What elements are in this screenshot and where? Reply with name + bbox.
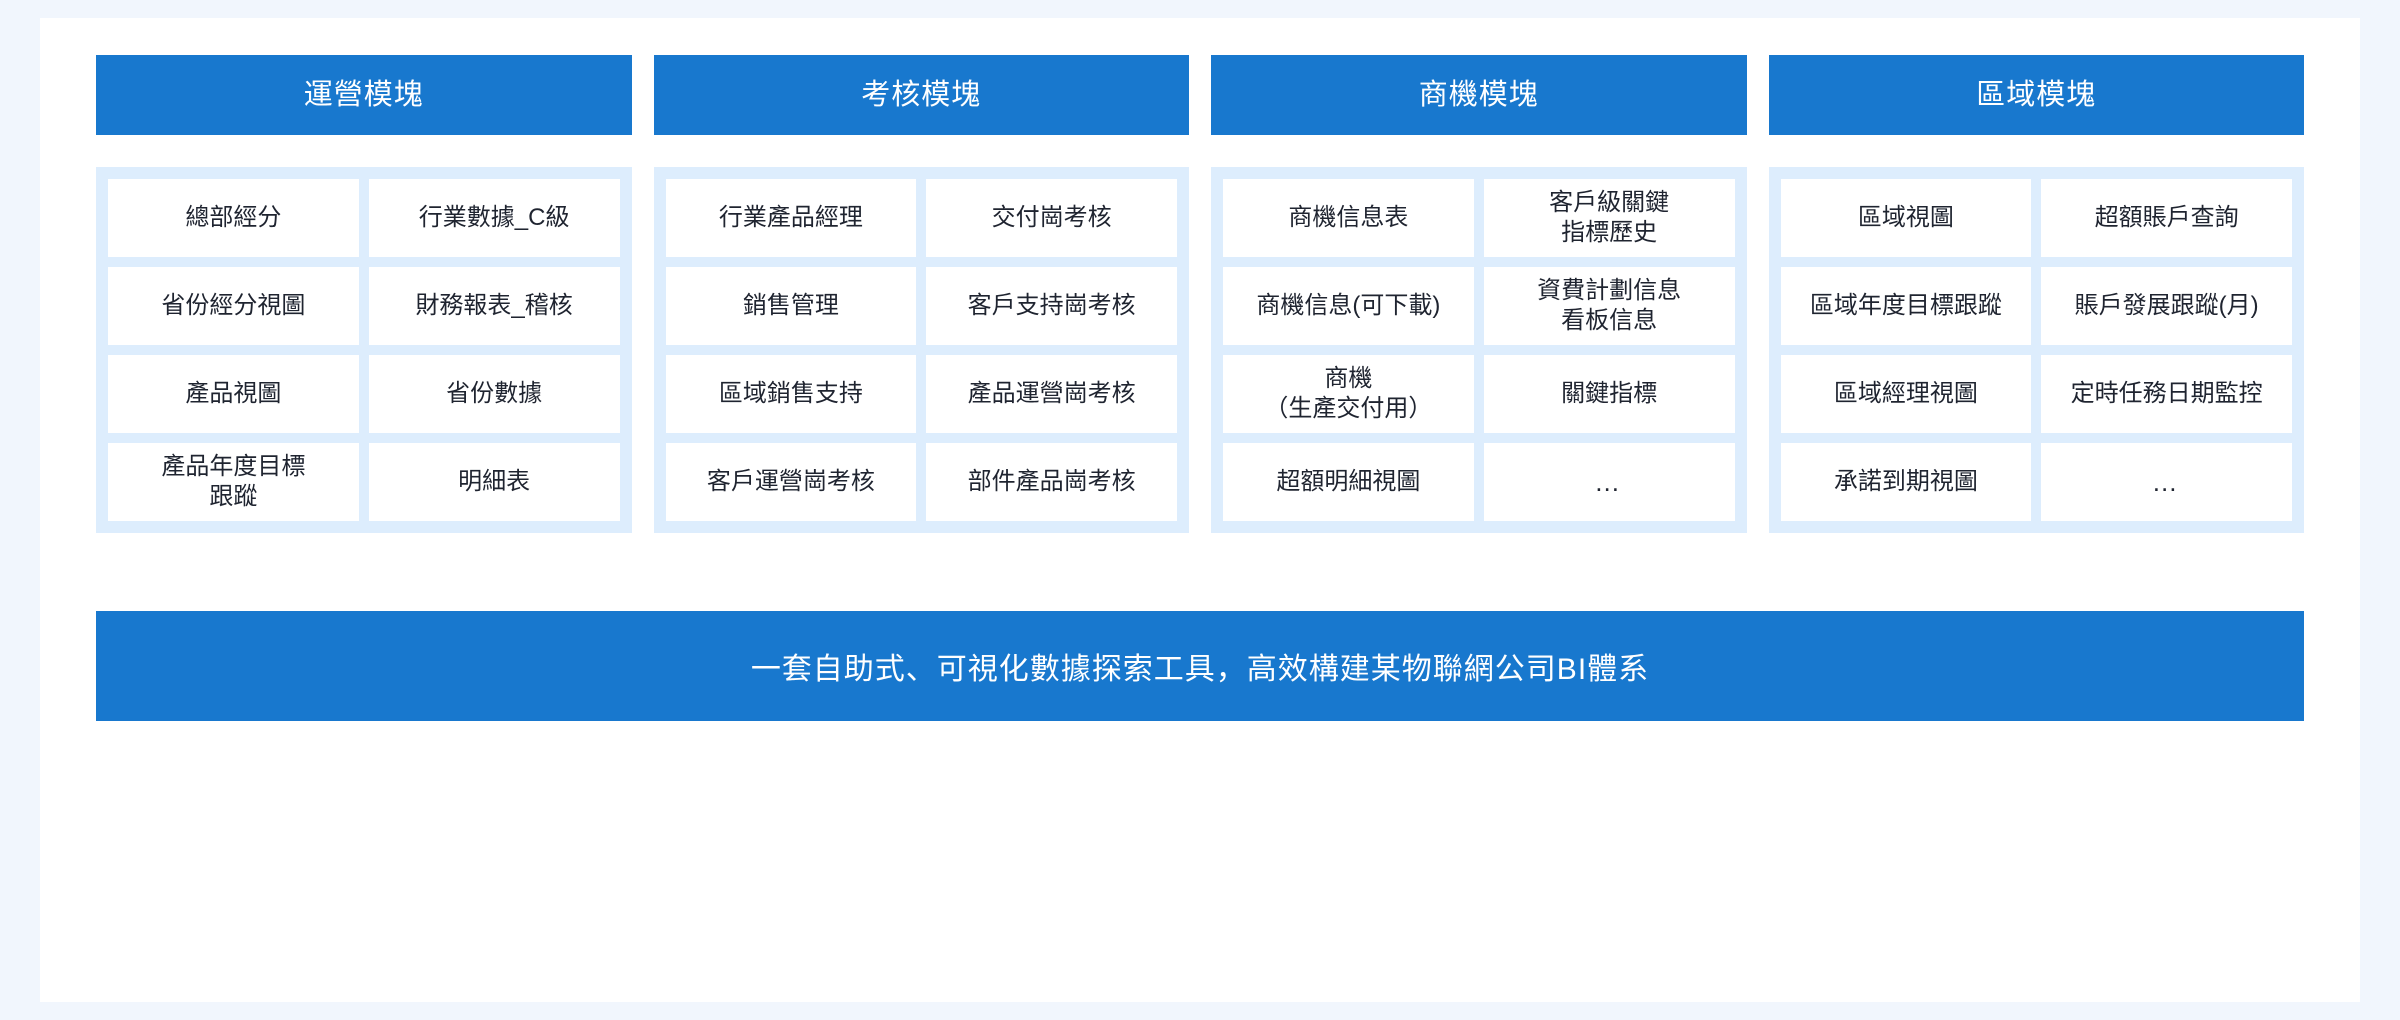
- module-tile[interactable]: 銷售管理: [666, 267, 917, 345]
- module-tile[interactable]: 承諾到期視圖: [1781, 443, 2032, 521]
- module-tile-grid-assessment: 行業產品經理 交付崗考核 銷售管理 客戶支持崗考核 區域銷售支持 產品運營崗考核…: [654, 167, 1190, 533]
- module-tile[interactable]: 區域經理視圖: [1781, 355, 2032, 433]
- module-tile[interactable]: 客戶運營崗考核: [666, 443, 917, 521]
- module-tile[interactable]: 明細表: [369, 443, 620, 521]
- module-tile[interactable]: 產品年度目標 跟蹤: [108, 443, 359, 521]
- module-tile[interactable]: 區域年度目標跟蹤: [1781, 267, 2032, 345]
- module-tile[interactable]: 財務報表_稽核: [369, 267, 620, 345]
- module-column-opportunity: 商機模塊 商機信息表 客戶級關鍵 指標歷史 商機信息(可下載) 資費計劃信息 看…: [1211, 55, 1747, 533]
- module-tile-more[interactable]: …: [1484, 443, 1735, 521]
- module-tile[interactable]: 區域視圖: [1781, 179, 2032, 257]
- module-tile[interactable]: 商機信息(可下載): [1223, 267, 1474, 345]
- module-tile[interactable]: 超額明細視圖: [1223, 443, 1474, 521]
- module-tile-grid-opportunity: 商機信息表 客戶級關鍵 指標歷史 商機信息(可下載) 資費計劃信息 看板信息 商…: [1211, 167, 1747, 533]
- module-title-text: 商機模塊: [1419, 78, 1539, 113]
- module-tile[interactable]: 部件產品崗考核: [926, 443, 1177, 521]
- module-tile[interactable]: 交付崗考核: [926, 179, 1177, 257]
- slide-canvas: 運營模塊 總部經分 行業數據_C級 省份經分視圖 財務報表_稽核 產品視圖 省份…: [40, 18, 2360, 1002]
- footer-banner-text: 一套自助式、可視化數據探索工具，高效構建某物聯網公司BI體系: [751, 644, 1649, 688]
- module-tile-grid-region: 區域視圖 超額賬戶查詢 區域年度目標跟蹤 賬戶發展跟蹤(月) 區域經理視圖 定時…: [1769, 167, 2305, 533]
- module-column-assessment: 考核模塊 行業產品經理 交付崗考核 銷售管理 客戶支持崗考核 區域銷售支持 產品…: [654, 55, 1190, 533]
- module-tile[interactable]: 區域銷售支持: [666, 355, 917, 433]
- module-tile-grid-operations: 總部經分 行業數據_C級 省份經分視圖 財務報表_稽核 產品視圖 省份數據 產品…: [96, 167, 632, 533]
- module-tile[interactable]: 產品運營崗考核: [926, 355, 1177, 433]
- module-column-region: 區域模塊 區域視圖 超額賬戶查詢 區域年度目標跟蹤 賬戶發展跟蹤(月) 區域經理…: [1769, 55, 2305, 533]
- module-tile[interactable]: 行業數據_C級: [369, 179, 620, 257]
- footer-area: 一套自助式、可視化數據探索工具，高效構建某物聯網公司BI體系: [96, 611, 2304, 721]
- module-tile[interactable]: 定時任務日期監控: [2041, 355, 2292, 433]
- module-tile[interactable]: 客戶支持崗考核: [926, 267, 1177, 345]
- module-column-operations: 運營模塊 總部經分 行業數據_C級 省份經分視圖 財務報表_稽核 產品視圖 省份…: [96, 55, 632, 533]
- module-tile[interactable]: 產品視圖: [108, 355, 359, 433]
- module-tile[interactable]: 商機信息表: [1223, 179, 1474, 257]
- module-tile[interactable]: 省份數據: [369, 355, 620, 433]
- module-tile[interactable]: 賬戶發展跟蹤(月): [2041, 267, 2292, 345]
- module-tile-more[interactable]: …: [2041, 443, 2292, 521]
- module-title-text: 運營模塊: [304, 78, 424, 113]
- module-header-opportunity[interactable]: 商機模塊: [1211, 55, 1747, 135]
- module-title-text: 區域模塊: [1976, 78, 2096, 113]
- module-tile[interactable]: 客戶級關鍵 指標歷史: [1484, 179, 1735, 257]
- module-header-region[interactable]: 區域模塊: [1769, 55, 2305, 135]
- module-tile[interactable]: 超額賬戶查詢: [2041, 179, 2292, 257]
- module-title-text: 考核模塊: [861, 78, 981, 113]
- footer-banner: 一套自助式、可視化數據探索工具，高效構建某物聯網公司BI體系: [96, 611, 2304, 721]
- module-tile[interactable]: 總部經分: [108, 179, 359, 257]
- module-tile[interactable]: 資費計劃信息 看板信息: [1484, 267, 1735, 345]
- module-tile[interactable]: 行業產品經理: [666, 179, 917, 257]
- module-header-operations[interactable]: 運營模塊: [96, 55, 632, 135]
- module-tile[interactable]: 關鍵指標: [1484, 355, 1735, 433]
- module-header-assessment[interactable]: 考核模塊: [654, 55, 1190, 135]
- module-tile[interactable]: 商機 （生產交付用）: [1223, 355, 1474, 433]
- modules-row: 運營模塊 總部經分 行業數據_C級 省份經分視圖 財務報表_稽核 產品視圖 省份…: [96, 55, 2304, 533]
- module-tile[interactable]: 省份經分視圖: [108, 267, 359, 345]
